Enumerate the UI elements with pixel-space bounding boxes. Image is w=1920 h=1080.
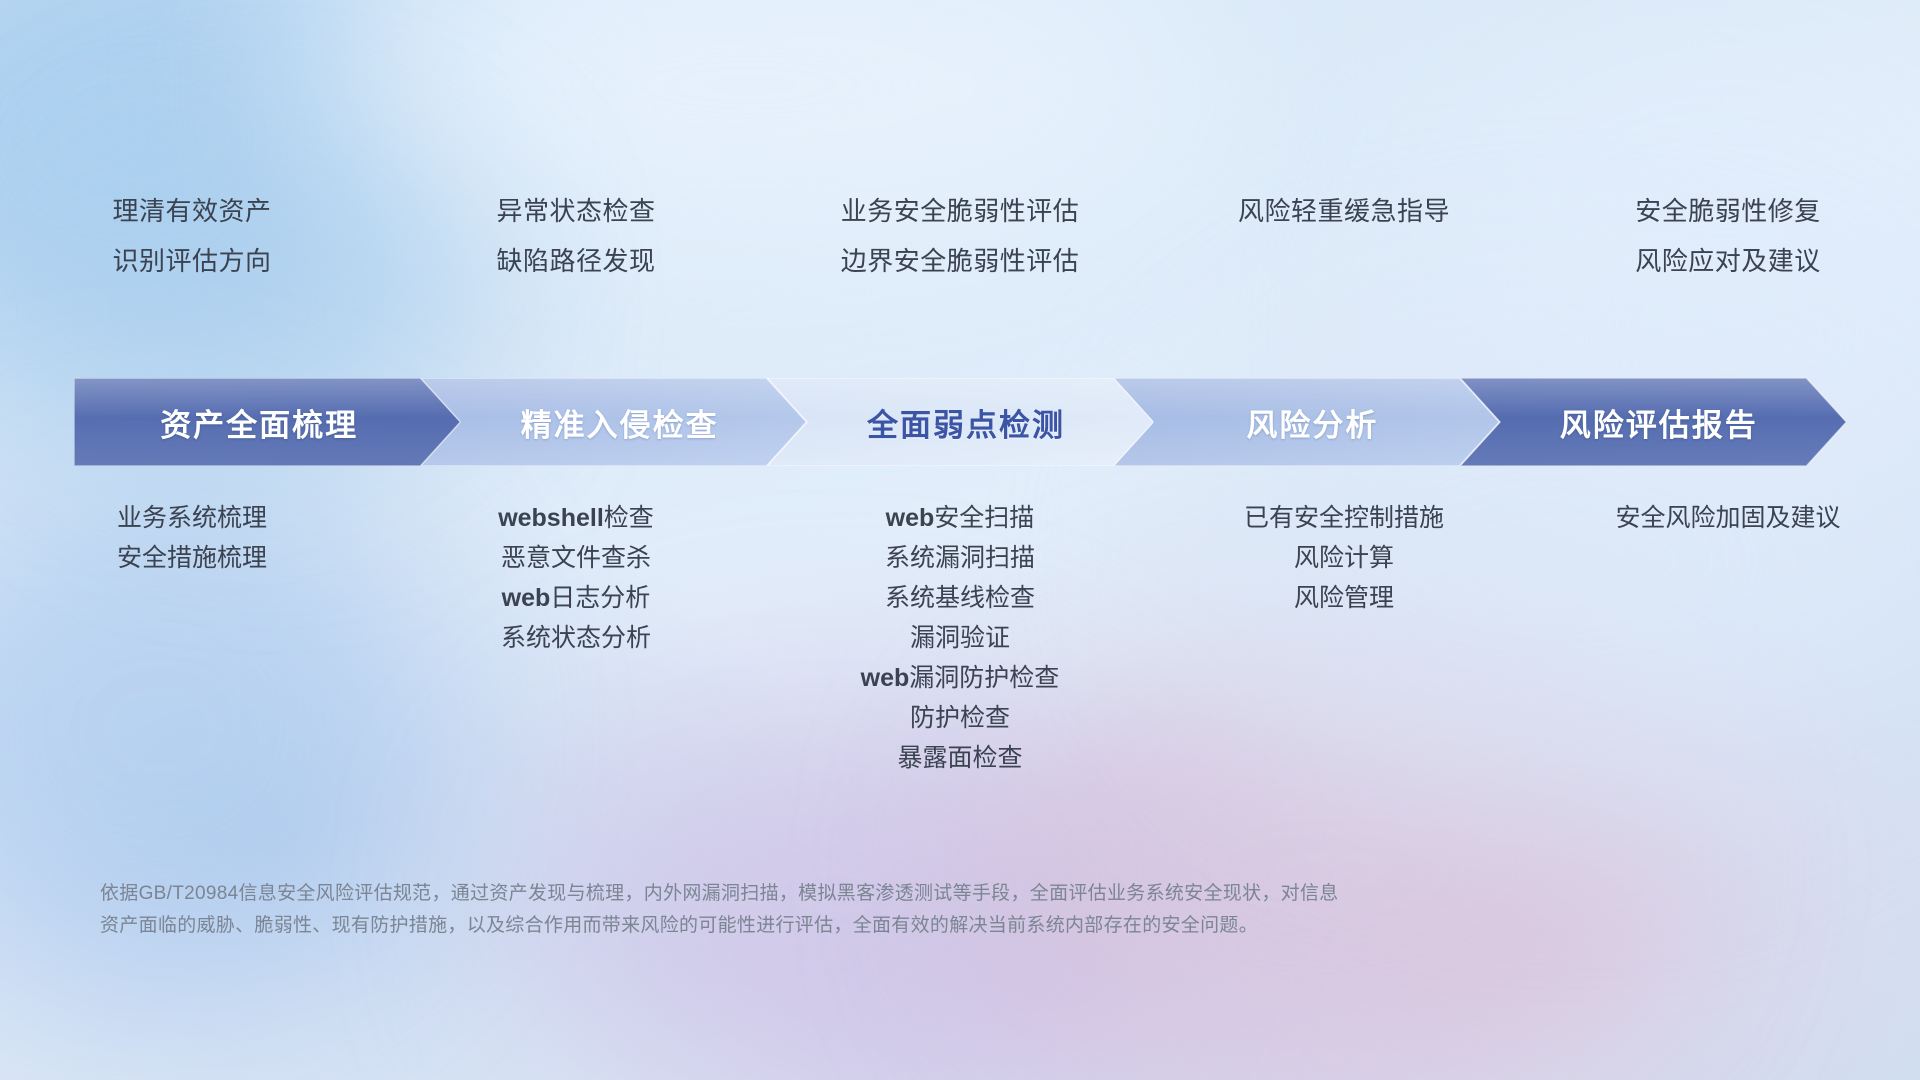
bottom-label: 暴露面检查 <box>897 738 1022 778</box>
process-stage-title: 全面弱点检测 <box>867 400 1065 445</box>
bottom-label: webshell检查 <box>498 498 654 538</box>
process-stage-title: 风险分析 <box>1246 400 1378 445</box>
bottom-column-risk-report: 安全风险加固及建议 <box>1536 498 1920 778</box>
bottom-label: 防护检查 <box>910 698 1010 738</box>
top-label: 识别评估方向 <box>112 236 271 286</box>
bottom-column-weakness-detection: web安全扫描系统漏洞扫描系统基线检查漏洞验证web漏洞防护检查防护检查暴露面检… <box>768 498 1152 778</box>
bottom-label: web漏洞防护检查 <box>861 658 1060 698</box>
top-column-asset-inventory: 理清有效资产识别评估方向 <box>0 186 384 286</box>
bottom-label: 系统状态分析 <box>501 618 651 658</box>
process-stage-risk-report[interactable]: 风险评估报告 <box>1460 378 1846 466</box>
top-column-intrusion-check: 异常状态检查缺陷路径发现 <box>384 186 768 286</box>
process-stage-title: 风险评估报告 <box>1560 400 1758 445</box>
bottom-label: 漏洞验证 <box>910 618 1010 658</box>
bottom-label: 安全措施梳理 <box>117 538 267 578</box>
top-column-risk-analysis: 风险轻重缓急指导 <box>1152 186 1536 286</box>
process-stage-weakness-detection[interactable]: 全面弱点检测 <box>767 378 1153 466</box>
bottom-label: 风险管理 <box>1294 578 1394 618</box>
top-label: 风险应对及建议 <box>1635 236 1821 286</box>
bottom-label: 风险计算 <box>1294 538 1394 578</box>
bottom-label: 业务系统梳理 <box>117 498 267 538</box>
bottom-label: web日志分析 <box>502 578 651 618</box>
footer-line-1: 依据GB/T20984信息安全风险评估规范，通过资产发现与梳理，内外网漏洞扫描，… <box>100 878 1660 910</box>
top-column-weakness-detection: 业务安全脆弱性评估边界安全脆弱性评估 <box>768 186 1152 286</box>
top-label: 边界安全脆弱性评估 <box>841 236 1080 286</box>
process-stage-title: 精准入侵检查 <box>521 400 719 445</box>
slide-canvas: 理清有效资产识别评估方向异常状态检查缺陷路径发现业务安全脆弱性评估边界安全脆弱性… <box>0 0 1920 1080</box>
bottom-label: 已有安全控制措施 <box>1244 498 1444 538</box>
top-label-rows: 理清有效资产识别评估方向异常状态检查缺陷路径发现业务安全脆弱性评估边界安全脆弱性… <box>0 186 1920 286</box>
top-label: 缺陷路径发现 <box>496 236 655 286</box>
bottom-column-risk-analysis: 已有安全控制措施风险计算风险管理 <box>1152 498 1536 778</box>
top-label: 风险轻重缓急指导 <box>1238 186 1450 236</box>
process-stage-risk-analysis[interactable]: 风险分析 <box>1113 378 1499 466</box>
top-label: 业务安全脆弱性评估 <box>841 186 1080 236</box>
bottom-label: 系统基线检查 <box>885 578 1035 618</box>
top-label: 理清有效资产 <box>112 186 271 236</box>
bottom-label: 系统漏洞扫描 <box>885 538 1035 578</box>
top-label: 安全脆弱性修复 <box>1635 186 1821 236</box>
process-arrow-banner: 资产全面梳理精准入侵检查全面弱点检测风险分析风险评估报告 <box>74 378 1846 466</box>
top-column-risk-report: 安全脆弱性修复风险应对及建议 <box>1536 186 1920 286</box>
process-stage-intrusion-check[interactable]: 精准入侵检查 <box>420 378 806 466</box>
footer-description: 依据GB/T20984信息安全风险评估规范，通过资产发现与梳理，内外网漏洞扫描，… <box>100 878 1660 942</box>
bottom-label: web安全扫描 <box>886 498 1035 538</box>
bottom-column-intrusion-check: webshell检查恶意文件查杀web日志分析系统状态分析 <box>384 498 768 778</box>
footer-line-2: 资产面临的威胁、脆弱性、现有防护措施，以及综合作用而带来风险的可能性进行评估，全… <box>100 910 1660 942</box>
top-label: 异常状态检查 <box>496 186 655 236</box>
bottom-column-asset-inventory: 业务系统梳理安全措施梳理 <box>0 498 384 778</box>
process-stage-asset-inventory[interactable]: 资产全面梳理 <box>74 378 460 466</box>
bottom-label: 安全风险加固及建议 <box>1615 498 1840 538</box>
process-stage-title: 资产全面梳理 <box>160 400 358 445</box>
bottom-label: 恶意文件查杀 <box>501 538 651 578</box>
bottom-label-columns: 业务系统梳理安全措施梳理webshell检查恶意文件查杀web日志分析系统状态分… <box>0 498 1920 778</box>
